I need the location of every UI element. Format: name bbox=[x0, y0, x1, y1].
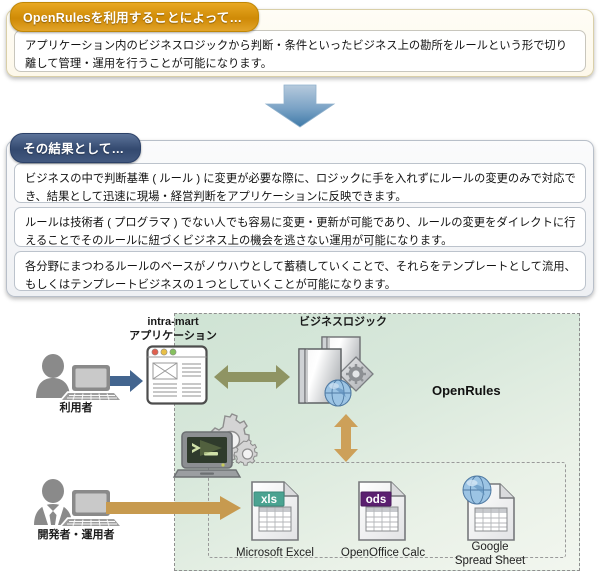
badge-text-xls: xls bbox=[261, 494, 277, 506]
result-item-2: 各分野にまつわるルールのベースがノウハウとして蓄積していくことで、それらをテンプ… bbox=[14, 251, 586, 291]
benefit-tab-label: OpenRulesを利用することによって… bbox=[10, 2, 259, 32]
documents-stack-icon bbox=[294, 333, 376, 407]
spreadsheet-file-icon-excel: xls bbox=[248, 480, 302, 542]
spreadsheet-file-icon-calc: ods bbox=[355, 480, 409, 542]
actor-label-developer: 開発者・運用者 bbox=[22, 529, 130, 543]
result-tab-label: その結果として… bbox=[10, 133, 141, 163]
result-item-1: ルールは技術者 ( プログラマ ) でない人でも容易に変更・更新が可能であり、ル… bbox=[14, 207, 586, 247]
arrow-both-horizontal-icon bbox=[214, 363, 290, 391]
spreadsheet-label-gsheet-line1: Google bbox=[437, 540, 543, 554]
benefit-item-0: アプリケーション内のビジネスロジックから判断・条件といったビジネス上の勘所をルー… bbox=[14, 30, 586, 72]
arrow-both-vertical-icon bbox=[332, 414, 360, 462]
laptop-gears-icon bbox=[178, 414, 260, 480]
node-label-intramart-line2: アプリケーション bbox=[118, 330, 228, 344]
spreadsheet-label-calc: OpenOffice Calc bbox=[330, 546, 436, 560]
badge-text-ods: ods bbox=[366, 494, 386, 506]
openrules-zone-title: OpenRules bbox=[432, 383, 501, 399]
node-label-intramart-line1: intra-mart bbox=[118, 316, 228, 330]
result-item-0: ビジネスの中で判断基準 ( ルール ) に変更が必要な際に、ロジックに手を入れず… bbox=[14, 163, 586, 203]
arrow-right-user-to-app-icon bbox=[110, 369, 144, 393]
browser-window-icon bbox=[146, 345, 208, 405]
node-label-businesslogic: ビジネスロジック bbox=[288, 316, 398, 330]
arrow-down-icon bbox=[258, 84, 342, 128]
actor-label-user: 利用者 bbox=[28, 402, 124, 416]
spreadsheet-label-gsheet-line2: Spread Sheet bbox=[437, 554, 543, 568]
spreadsheet-globe-file-icon-gsheet bbox=[460, 476, 520, 542]
page-root: OpenRulesを利用することによって… アプリケーション内のビジネスロジック… bbox=[0, 0, 600, 574]
spreadsheet-label-excel: Microsoft Excel bbox=[222, 546, 328, 560]
arrow-right-developer-to-sheets-icon bbox=[106, 495, 242, 521]
